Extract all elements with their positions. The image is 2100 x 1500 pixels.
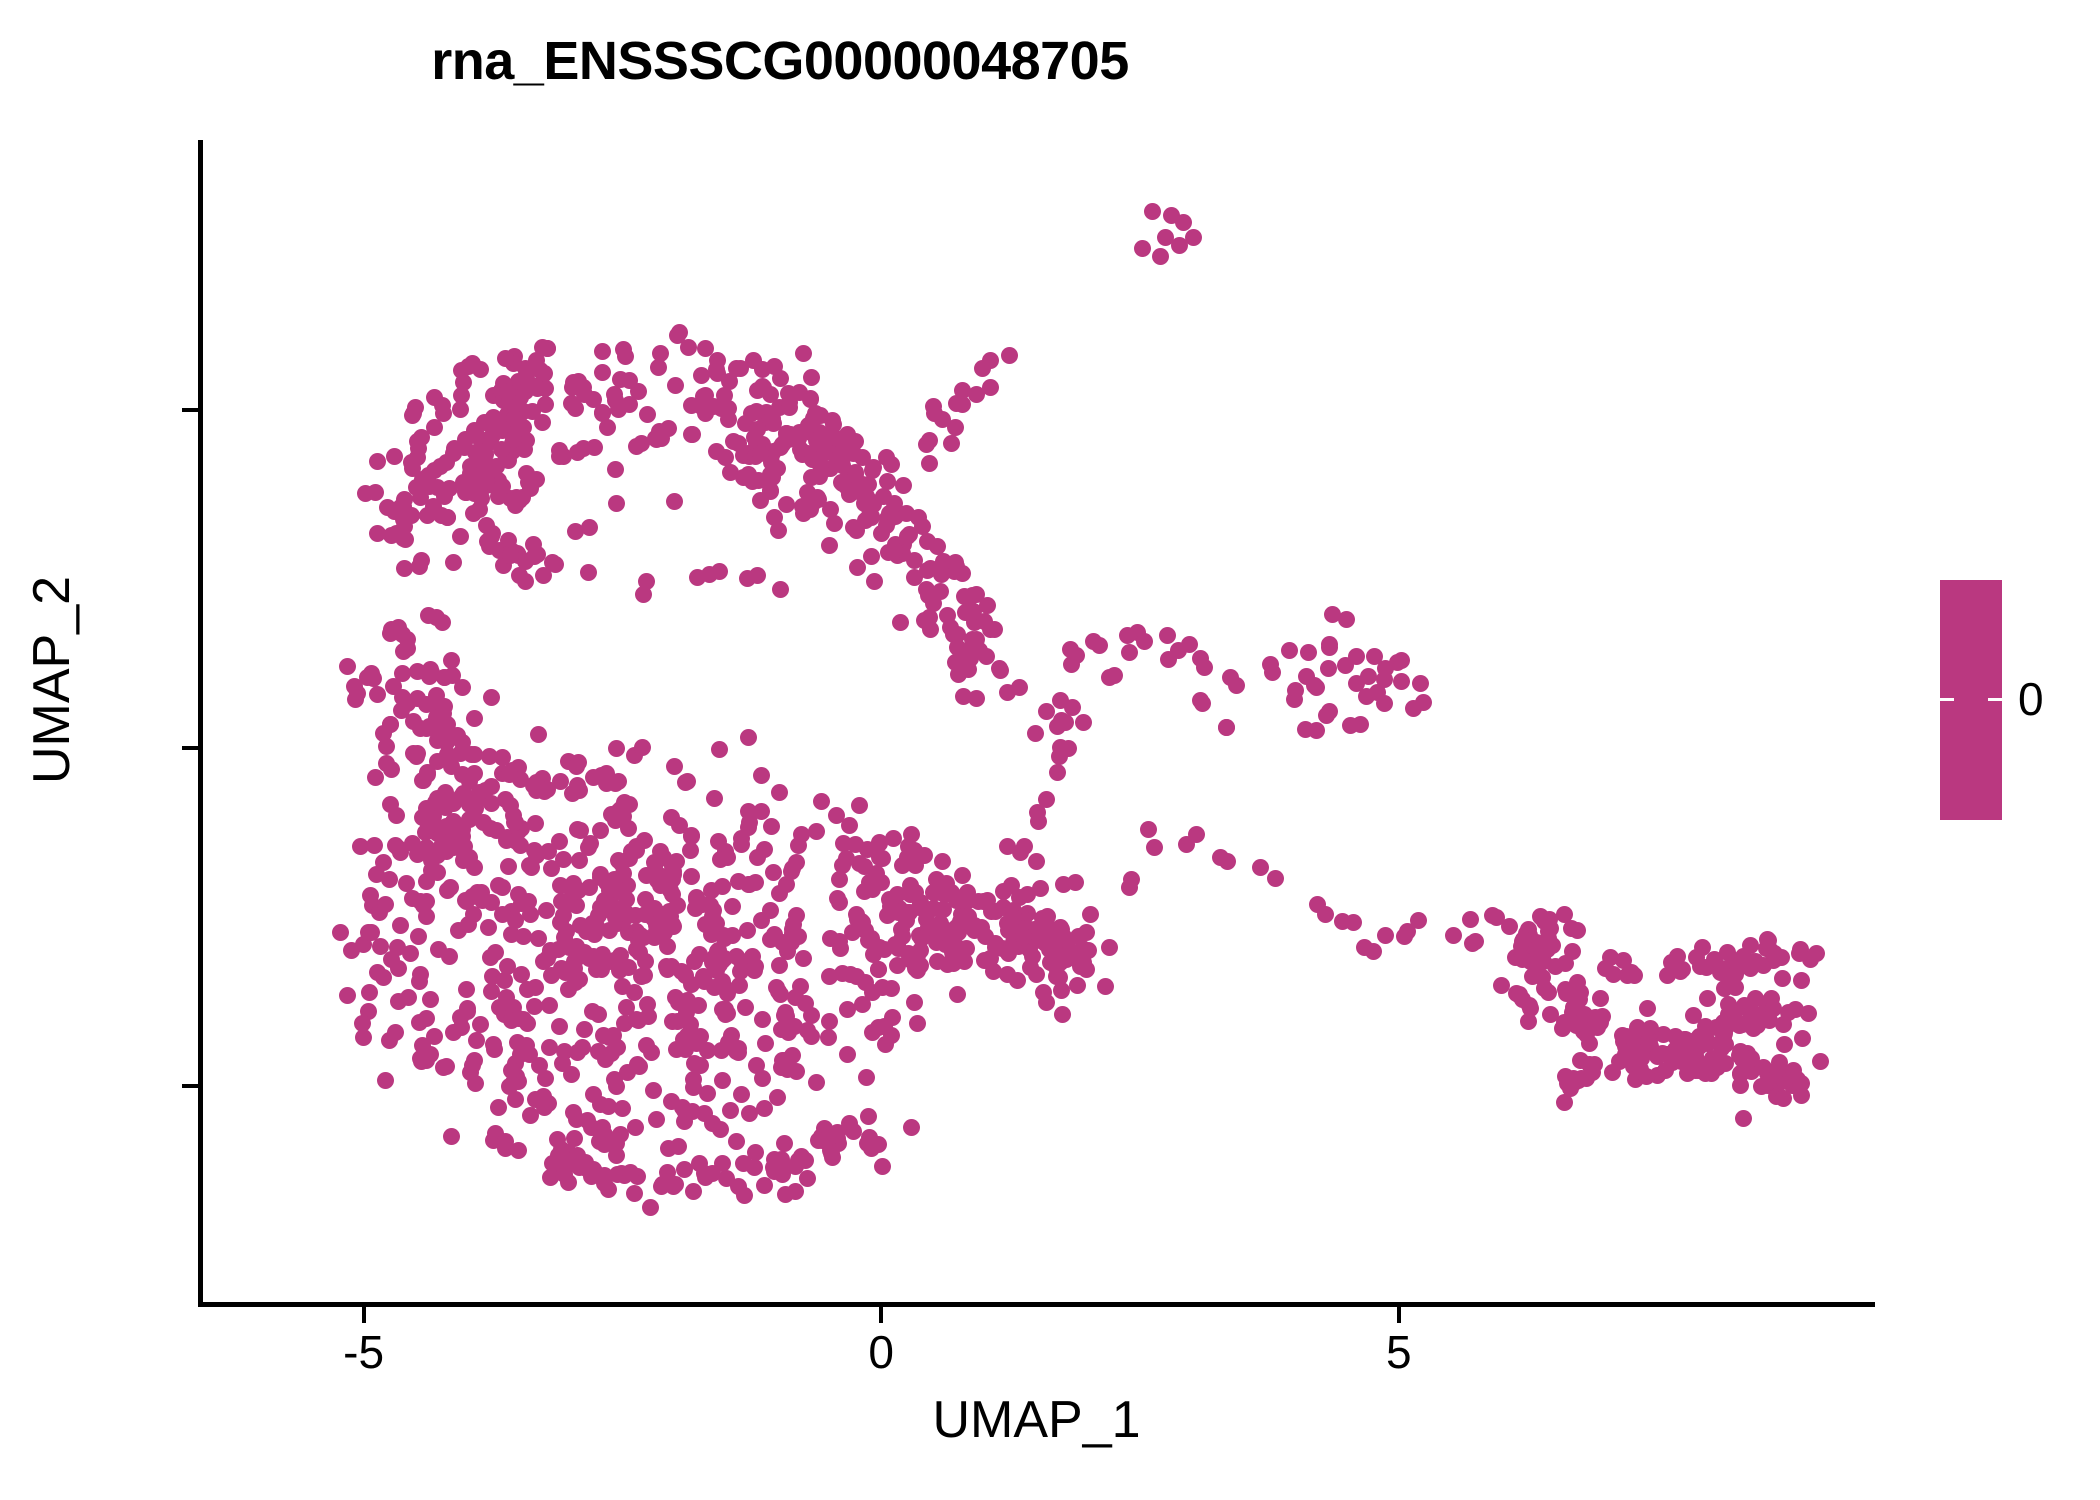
scatter-point [839,1046,856,1063]
scatter-point [1035,984,1052,1001]
scatter-point [716,930,733,947]
scatter-point [472,1016,489,1033]
scatter-point [763,818,780,835]
scatter-point [903,1119,920,1136]
scatter-point [423,815,440,832]
scatter-point [954,867,971,884]
scatter-point [608,495,625,512]
scatter-point [1286,691,1303,708]
scatter-point [1565,999,1582,1016]
scatter-point [1812,1053,1829,1070]
scatter-point [452,401,469,418]
scatter-point [766,509,783,526]
scatter-point [1412,675,1429,692]
scatter-point [622,1164,639,1181]
scatter-point [955,688,972,705]
scatter-point [535,1088,552,1105]
scatter-point [400,989,417,1006]
scatter-point [553,1141,570,1158]
scatter-point [679,1027,696,1044]
scatter-point [1119,627,1136,644]
scatter-point [633,968,650,985]
scatter-point [894,928,911,945]
scatter-point [339,658,356,675]
scatter-point [485,1036,502,1053]
scatter-point [664,886,681,903]
scatter-point [1027,725,1044,742]
scatter-point [1556,1094,1573,1111]
scatter-point [1563,920,1580,937]
scatter-point [1252,859,1269,876]
colorbar-legend: 0 [1940,580,2002,820]
scatter-point [443,1128,460,1145]
scatter-point [369,964,386,981]
scatter-point [1554,1020,1571,1037]
scatter-point [469,792,486,809]
scatter-point [436,669,453,686]
scatter-point [1267,870,1284,887]
scatter-point [783,863,800,880]
scatter-point [812,456,829,473]
scatter-point [422,991,439,1008]
scatter-point [1578,1070,1595,1087]
scatter-point [702,897,719,914]
scatter-point [1753,1078,1770,1095]
scatter-point [1564,943,1581,960]
scatter-point [367,769,384,786]
scatter-point [332,924,349,941]
scatter-point [1281,642,1298,659]
scatter-point [752,492,769,509]
scatter-point [713,1042,730,1059]
scatter-point [461,811,478,828]
scatter-point [591,1133,608,1150]
scatter-point [664,916,681,933]
scatter-point [795,950,812,967]
scatter-point [542,1169,559,1186]
scatter-point [730,873,747,890]
scatter-point [1028,966,1045,983]
scatter-point [439,509,456,526]
scatter-point [381,871,398,888]
scatter-point [820,1029,837,1046]
scatter-point [718,1170,735,1187]
x-tick-label: 0 [811,1325,951,1379]
scatter-point [1188,826,1205,843]
scatter-point [683,426,700,443]
scatter-point [564,379,581,396]
scatter-point [1078,924,1095,941]
scatter-point [939,607,956,624]
scatter-point [637,906,654,923]
scatter-point [1218,719,1235,736]
scatter-point [771,784,788,801]
scatter-point [1742,937,1759,954]
scatter-point [1731,1047,1748,1064]
scatter-point [530,726,547,743]
scatter-point [1053,712,1070,729]
scatter-point [956,588,973,605]
scatter-point [1054,1006,1071,1023]
scatter-point [541,997,558,1014]
scatter-point [490,488,507,505]
scatter-point [599,901,616,918]
scatter-point [866,573,883,590]
scatter-point [1348,648,1365,665]
scatter-point [496,972,513,989]
scatter-point [361,984,378,1001]
scatter-point [650,359,667,376]
scatter-point [1106,667,1123,684]
scatter-point [547,556,564,573]
scatter-point [696,1105,713,1122]
scatter-point [649,872,666,889]
scatter-point [608,1147,625,1164]
scatter-point [441,480,458,497]
scatter-point [842,966,859,983]
scatter-point [402,945,419,962]
scatter-point [383,761,400,778]
scatter-point [683,868,700,885]
scatter-point [506,814,523,831]
scatter-point [339,987,356,1004]
scatter-point [706,979,723,996]
scatter-point [1360,668,1377,685]
scatter-point [832,940,849,957]
scatter-point [737,999,754,1016]
scatter-point [394,665,411,682]
scatter-point [741,1105,758,1122]
scatter-point [986,621,1003,638]
scatter-point [821,1013,838,1030]
scatter-point [377,1072,394,1089]
scatter-point [949,986,966,1003]
scatter-point [515,419,532,436]
scatter-point [663,809,680,826]
scatter-point [466,859,483,876]
scatter-point [594,343,611,360]
scatter-point [614,1100,631,1117]
scatter-point [1170,642,1187,659]
scatter-point [1001,347,1018,364]
scatter-point [774,1052,791,1069]
scatter-point [686,1055,703,1072]
scatter-point [720,411,737,428]
scatter-point [921,432,938,449]
scatter-point [1321,639,1338,656]
scatter-point [608,740,625,757]
scatter-point [685,1071,702,1088]
x-tick-label: 5 [1329,1325,1469,1379]
scatter-point [795,345,812,362]
scatter-point [1051,748,1068,765]
scatter-point [410,928,427,945]
scatter-point [363,924,380,941]
scatter-point [947,419,964,436]
scatter-point [1393,652,1410,669]
scatter-point [404,890,421,907]
scatter-point [551,1018,568,1035]
scatter-point [871,849,888,866]
scatter-plot-figure: rna_ENSSSCG00000048705 40-4 -505 UMAP_2 … [0,0,2100,1500]
scatter-point [899,849,916,866]
scatter-point [1794,1030,1811,1047]
scatter-point [620,820,637,837]
scatter-point [1300,644,1317,661]
scatter-point [630,1012,647,1029]
scatter-point [753,767,770,784]
scatter-point [493,441,510,458]
scatter-point [628,838,645,855]
scatter-point [1185,229,1202,246]
scatter-point [777,1004,794,1021]
scatter-point [1511,986,1528,1003]
scatter-point [510,1010,527,1027]
scatter-point [841,817,858,834]
scatter-point [418,908,435,925]
scatter-point [733,836,750,853]
scatter-point [1320,660,1337,677]
x-axis-title: UMAP_1 [198,1390,1875,1450]
scatter-point [1775,1016,1792,1033]
scatter-point [453,1019,470,1036]
scatter-point [858,1069,875,1086]
scatter-point [1121,879,1138,896]
scatter-point [441,818,458,835]
scatter-point [396,560,413,577]
scatter-point [980,951,997,968]
scatter-point [643,1044,660,1061]
scatter-point [999,966,1016,983]
scatter-point [627,1119,644,1136]
scatter-point [864,462,881,479]
scatter-point [890,904,907,921]
scatter-point [642,1199,659,1216]
scatter-point [762,386,779,403]
scatter-point [706,790,723,807]
scatter-point [1776,1036,1793,1053]
scatter-point [954,396,971,413]
scatter-point [1352,716,1369,733]
scatter-point [576,944,593,961]
scatter-point [645,1082,662,1099]
scatter-point [507,1091,524,1108]
scatter-point [607,461,624,478]
scatter-point [386,503,403,520]
scatter-point [1674,961,1691,978]
scatter-point [567,974,584,991]
scatter-point [411,558,428,575]
scatter-point [803,1007,820,1024]
scatter-point [809,489,826,506]
scatter-point [766,926,783,943]
scatter-point [394,689,411,706]
scatter-point [450,922,467,939]
scatter-point [578,923,595,940]
scatter-point [500,858,517,875]
scatter-point [808,1074,825,1091]
scatter-point [800,417,817,434]
scatter-point [515,928,532,945]
scatter-point [1793,1087,1810,1104]
scatter-point [673,963,690,980]
scatter-point [788,907,805,924]
scatter-point [597,1051,614,1068]
x-tick-mark [1397,1307,1401,1323]
scatter-point [1597,960,1614,977]
scatter-point [354,1015,371,1032]
scatter-point [599,419,616,436]
scatter-point [733,1086,750,1103]
scatter-point [1690,1062,1707,1079]
scatter-point [398,875,415,892]
scatter-point [935,901,952,918]
scatter-point [419,766,436,783]
scatter-point [1639,1000,1656,1017]
scatter-point [558,923,575,940]
scatter-point [458,981,475,998]
scatter-point [851,797,868,814]
scatter-point [648,1111,665,1128]
scatter-point [728,1133,745,1150]
scatter-point [513,966,530,983]
scatter-point [1049,764,1066,781]
scatter-point [919,533,936,550]
scatter-point [1604,1064,1621,1081]
scatter-point [369,686,386,703]
scatter-point [551,448,568,465]
scatter-point [1542,1006,1559,1023]
scatter-point [856,858,873,875]
scatter-point [460,358,477,375]
scatter-point [1317,906,1334,923]
scatter-point [739,570,756,587]
scatter-point [776,1135,793,1152]
scatter-point [576,1021,593,1038]
page-title: rna_ENSSSCG00000048705 [0,30,1560,92]
scatter-point [1194,695,1211,712]
scatter-point [497,350,514,367]
scatter-point [982,379,999,396]
scatter-points-layer [198,140,1875,1305]
scatter-point [490,1099,507,1116]
scatter-point [906,552,923,569]
scatter-point [1003,877,1020,894]
scatter-point [788,1063,805,1080]
scatter-point [874,1158,891,1175]
scatter-point [1212,849,1229,866]
scatter-point [671,324,688,341]
scatter-point [834,457,851,474]
scatter-point [1080,942,1097,959]
scatter-point [854,996,871,1013]
x-tick-mark [362,1307,366,1323]
scatter-point [1024,948,1041,965]
scatter-point [527,815,544,832]
scatter-point [731,977,748,994]
scatter-point [537,396,554,413]
scatter-point [433,838,450,855]
scatter-point [934,853,951,870]
scatter-point [883,456,900,473]
scatter-point [670,1138,687,1155]
scatter-point [570,882,587,899]
scatter-point [378,738,395,755]
scatter-point [874,979,891,996]
scatter-point [519,981,536,998]
scatter-point [1075,714,1092,731]
scatter-point [1159,627,1176,644]
scatter-point [1005,909,1022,926]
scatter-point [975,893,992,910]
scatter-point [377,896,394,913]
scatter-point [1614,1027,1631,1044]
scatter-point [973,919,990,936]
scatter-point [849,559,866,576]
scatter-point [778,496,795,513]
scatter-point [870,961,887,978]
scatter-point [1713,1040,1730,1057]
scatter-point [968,631,985,648]
scatter-point [754,1011,771,1028]
scatter-point [863,548,880,565]
scatter-point [1019,886,1036,903]
scatter-point [956,953,973,970]
scatter-point [1626,967,1643,984]
scatter-point [685,1183,702,1200]
scatter-point [580,839,597,856]
scatter-point [1501,918,1518,935]
scatter-point [567,523,584,540]
scatter-point [666,758,683,775]
scatter-point [813,793,830,810]
scatter-point [494,749,511,766]
scatter-point [392,917,409,934]
scatter-point [426,1028,443,1045]
scatter-point [607,392,624,409]
scatter-point [724,898,741,915]
scatter-point [778,425,795,442]
scatter-point [1063,656,1080,673]
scatter-point [539,781,556,798]
scatter-point [594,364,611,381]
scatter-point [921,455,938,472]
scatter-point [1069,977,1086,994]
scatter-point [612,801,629,818]
scatter-point [435,405,452,422]
scatter-point [1038,791,1055,808]
scatter-point [1052,919,1069,936]
scatter-point [452,528,469,545]
scatter-point [757,1035,774,1052]
scatter-point [517,573,534,590]
scatter-point [749,849,766,866]
scatter-point [553,960,570,977]
scatter-point [483,689,500,706]
scatter-point [1030,813,1047,830]
scatter-point [1055,876,1072,893]
scatter-point [454,679,471,696]
scatter-point [517,383,534,400]
scatter-point [618,999,635,1016]
scatter-point [714,952,731,969]
scatter-point [1028,853,1045,870]
scatter-point [683,828,700,845]
scatter-point [1493,977,1510,994]
scatter-point [465,505,482,522]
scatter-point [943,435,960,452]
scatter-point [347,691,364,708]
